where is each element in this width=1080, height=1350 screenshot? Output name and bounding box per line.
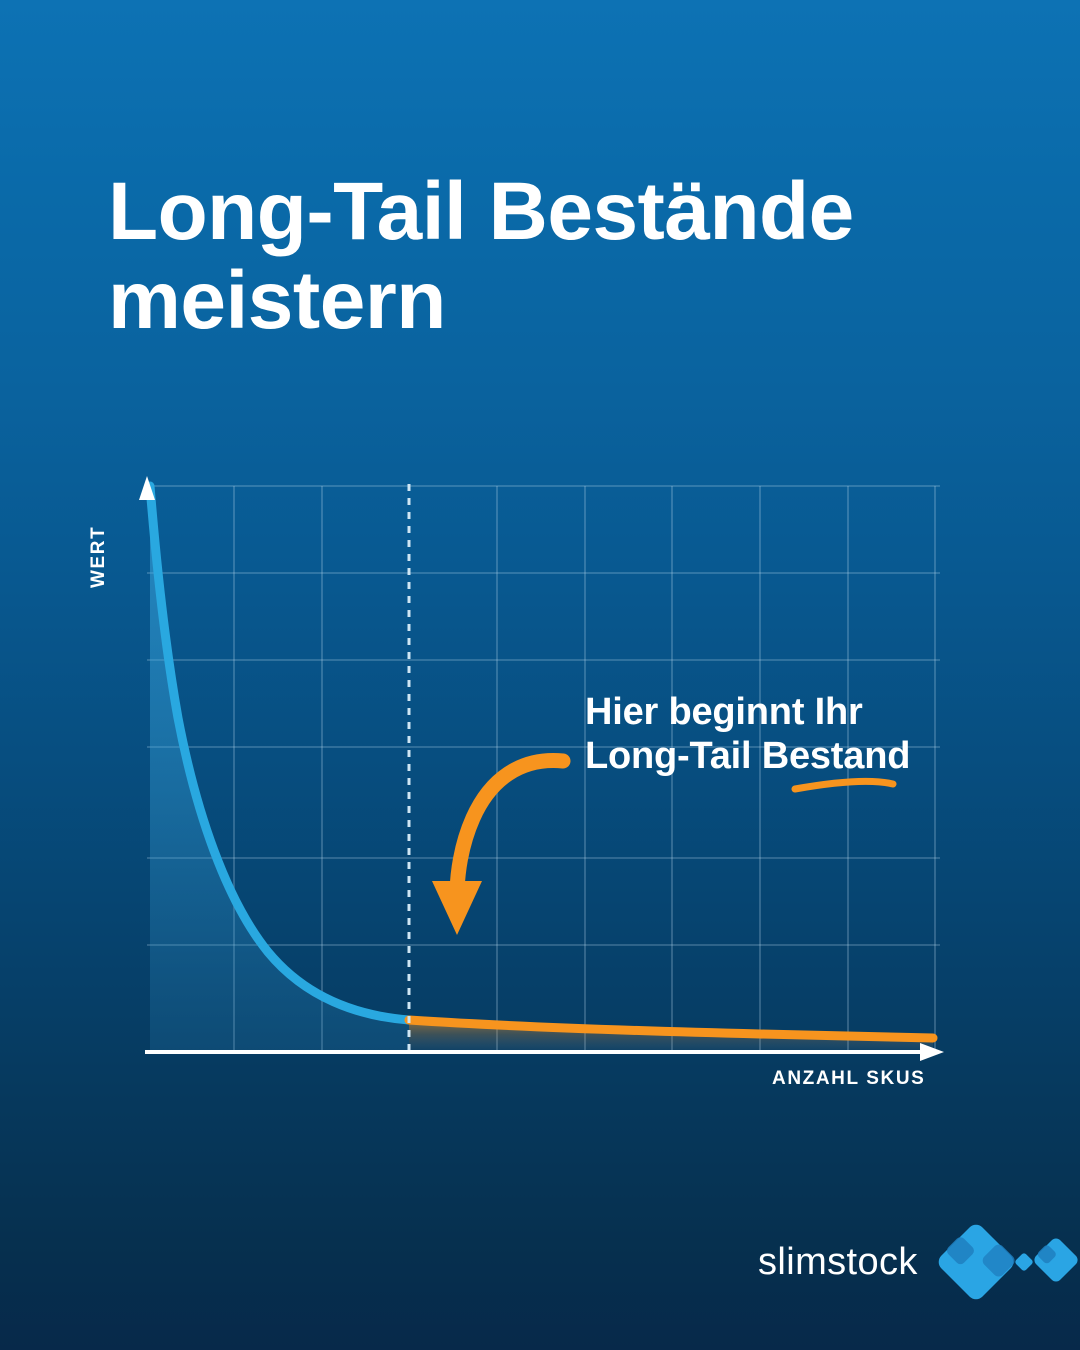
poster-canvas: Long-Tail Bestände meistern: [0, 0, 1080, 1350]
annotation-underline: [795, 781, 893, 789]
logo-wordmark: slimstock: [758, 1243, 918, 1281]
long-tail-chart: [0, 0, 1080, 1350]
x-axis-label: ANZAHL SKUS: [772, 1068, 925, 1090]
longtail-annotation-text: Hier beginnt Ihr Long-Tail Bestand: [585, 690, 910, 779]
diamond-cluster-icon: [932, 1222, 1080, 1302]
y-axis-label: WERT: [88, 478, 110, 588]
brand-logo: slimstock: [758, 1222, 1080, 1302]
